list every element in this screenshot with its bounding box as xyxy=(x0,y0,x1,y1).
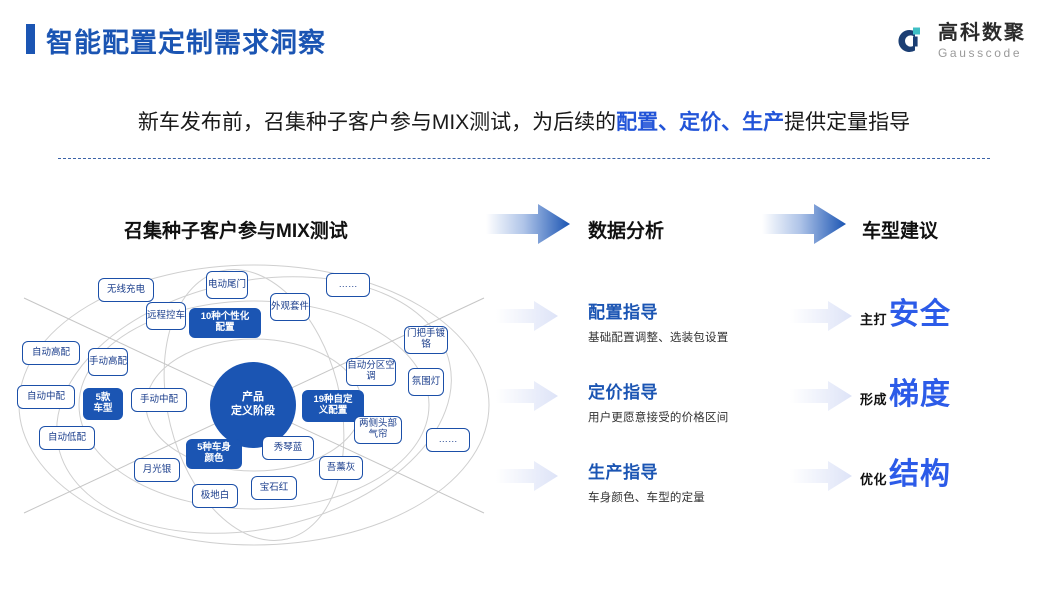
analysis-title: 定价指导 xyxy=(588,378,818,403)
analysis-item-pricing: 定价指导 用户更愿意接受的价格区间 xyxy=(588,378,818,425)
subtitle-part-1: 新车发布前，召集种子客户参与MIX测试，为后续的 xyxy=(138,111,616,134)
logo-en: Gausscode xyxy=(938,47,1026,59)
mindmap-tag-polar-white[interactable]: 极地白 xyxy=(192,484,238,508)
mindmap-tag-auto-high[interactable]: 自动高配 xyxy=(22,341,80,365)
mindmap-tag-wireless-charging[interactable]: 无线充电 xyxy=(98,278,154,302)
suggestion-item-structure: 优化 结构 xyxy=(860,460,951,490)
row-arrow-left-3-icon xyxy=(496,460,558,492)
title-accent-bar xyxy=(26,24,35,54)
slide-root: 智能配置定制需求洞察 高科数聚 Gausscode 新车发布前，召集种子客户参与… xyxy=(0,0,1048,589)
suggestion-item-safety: 主打 安全 xyxy=(860,300,951,330)
subtitle-part-2: 提供定量指导 xyxy=(784,111,910,134)
suggestion-keyword: 梯度 xyxy=(889,380,951,410)
mindmap-tag-dual-zone-ac[interactable]: 自动分区空调 xyxy=(346,358,396,386)
section-divider xyxy=(58,158,990,159)
suggestion-prefix: 优化 xyxy=(860,469,887,488)
mindmap-tag-blue[interactable]: 秀琴蓝 xyxy=(262,436,314,460)
analysis-desc: 用户更愿意接受的价格区间 xyxy=(588,409,818,425)
analysis-title: 配置指导 xyxy=(588,298,818,323)
logo-cn: 高科数聚 xyxy=(938,23,1026,43)
mindmap-tag-ambient-light[interactable]: 氛围灯 xyxy=(408,368,444,396)
hub-line-1: 产品 xyxy=(242,391,264,405)
mindmap-tag-ellipsis-right[interactable]: …… xyxy=(426,428,470,452)
mindmap-tag-ellipsis-top[interactable]: …… xyxy=(326,273,370,297)
row-arrow-left-2-icon xyxy=(496,380,558,412)
mindmap-chip-personalized-config[interactable]: 10种个性化 配置 xyxy=(189,308,261,338)
suggestion-keyword: 结构 xyxy=(889,460,951,490)
mindmap-tag-side-curtain-airbags[interactable]: 两侧头部气帘 xyxy=(354,416,402,444)
column-heading-analysis: 数据分析 xyxy=(588,216,664,243)
mindmap-tag-power-tailgate[interactable]: 电动尾门 xyxy=(206,271,248,299)
mindmap-tag-ruby-red[interactable]: 宝石红 xyxy=(251,476,297,500)
column-heading-advice: 车型建议 xyxy=(862,216,938,243)
mindmap-tag-auto-low[interactable]: 自动低配 xyxy=(39,426,95,450)
brand-logo: 高科数聚 Gausscode xyxy=(891,18,1026,64)
analysis-title: 生产指导 xyxy=(588,458,818,483)
slide-header: 智能配置定制需求洞察 高科数聚 Gausscode xyxy=(0,0,1048,78)
suggestion-prefix: 形成 xyxy=(860,389,887,408)
mindmap-tag-remote-control[interactable]: 远程控车 xyxy=(146,302,186,330)
hub-line-2: 定义阶段 xyxy=(231,405,275,419)
mindmap-chip-body-colors[interactable]: 5种车身 颜色 xyxy=(186,439,242,469)
chip-line-2: 车型 xyxy=(93,404,112,415)
row-arrow-left-1-icon xyxy=(496,300,558,332)
mindmap-diagram: 产品 定义阶段 10种个性化 配置 19种自定 义配置 5款 车型 5种车身 颜… xyxy=(14,258,494,548)
gausscode-logo-icon xyxy=(891,24,929,58)
suggestion-item-tier: 形成 梯度 xyxy=(860,380,951,410)
chip-line-2: 义配置 xyxy=(319,406,348,417)
logo-wordmark: 高科数聚 Gausscode xyxy=(938,23,1026,59)
analysis-desc: 基础配置调整、选装包设置 xyxy=(588,329,818,345)
mindmap-tag-manual-high[interactable]: 手动高配 xyxy=(88,348,128,376)
mindmap-tag-grey[interactable]: 吾薰灰 xyxy=(319,456,363,480)
mindmap-tag-manual-mid[interactable]: 手动中配 xyxy=(131,388,187,412)
flow-arrow-1-icon xyxy=(486,203,570,245)
analysis-item-config: 配置指导 基础配置调整、选装包设置 xyxy=(588,298,818,345)
suggestion-keyword: 安全 xyxy=(889,300,951,330)
subtitle: 新车发布前，召集种子客户参与MIX测试，为后续的配置、定价、生产提供定量指导 xyxy=(0,106,1048,136)
chip-line-2: 配置 xyxy=(215,323,234,334)
mindmap-tag-auto-mid[interactable]: 自动中配 xyxy=(17,385,75,409)
suggestion-prefix: 主打 xyxy=(860,309,887,328)
page-title: 智能配置定制需求洞察 xyxy=(46,21,326,60)
subtitle-highlight: 配置、定价、生产 xyxy=(616,111,784,134)
mindmap-chip-models[interactable]: 5款 车型 xyxy=(83,388,123,420)
mindmap-tag-moonlight-silver[interactable]: 月光银 xyxy=(134,458,180,482)
analysis-item-production: 生产指导 车身颜色、车型的定量 xyxy=(588,458,818,505)
column-heading-collect: 召集种子客户参与MIX测试 xyxy=(124,216,348,243)
mindmap-tag-exterior-kit[interactable]: 外观套件 xyxy=(270,293,310,321)
flow-arrow-2-icon xyxy=(762,203,846,245)
chip-line-2: 颜色 xyxy=(204,454,223,465)
mindmap-tag-chrome-door-handle[interactable]: 门把手镀铬 xyxy=(404,326,448,354)
analysis-desc: 车身颜色、车型的定量 xyxy=(588,489,818,505)
